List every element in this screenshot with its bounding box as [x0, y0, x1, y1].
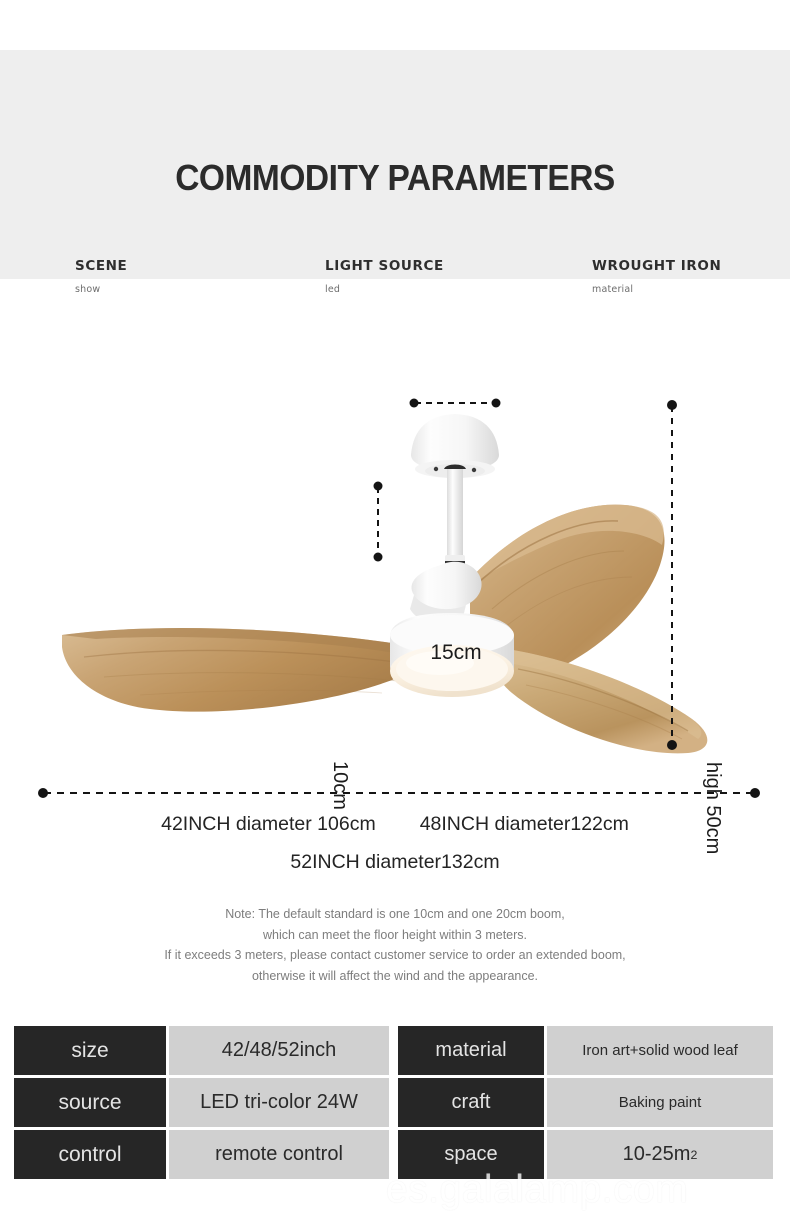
diameter-52inch: 52INCH diameter132cm — [290, 851, 499, 873]
diameter-line-1: 42INCH diameter 106cm48INCH diameter122c… — [0, 813, 790, 836]
spec-table-right: material Iron art+solid wood leaf craft … — [398, 1026, 773, 1179]
product-spec-page: COMMODITY PARAMETERS SCENE show LIGHT SO… — [0, 0, 790, 1224]
feature-title: SCENE — [75, 258, 127, 274]
dimension-line-15cm — [410, 399, 501, 408]
feature-title: LIGHT SOURCE — [325, 258, 444, 274]
table-row: size 42/48/52inch — [14, 1026, 389, 1075]
spec-key-material: material — [398, 1026, 544, 1075]
table-row: control remote control — [14, 1130, 389, 1179]
spec-value-space-exponent: 2 — [690, 1148, 697, 1162]
spec-value-source: LED tri-color 24W — [169, 1078, 389, 1127]
spec-value-space-number: 10-25m — [623, 1143, 691, 1166]
header-band: COMMODITY PARAMETERS SCENE show LIGHT SO… — [0, 50, 790, 279]
feature-title: WROUGHT IRON — [592, 258, 721, 274]
spec-value-control: remote control — [169, 1130, 389, 1179]
spec-table-left: size 42/48/52inch source LED tri-color 2… — [14, 1026, 389, 1179]
note-block: Note: The default standard is one 10cm a… — [0, 904, 790, 986]
diameter-42inch: 42INCH diameter 106cm — [161, 813, 376, 836]
diameter-48inch: 48INCH diameter122cm — [420, 813, 629, 835]
note-line-3: If it exceeds 3 meters, please contact c… — [0, 945, 790, 966]
specification-tables: size 42/48/52inch source LED tri-color 2… — [14, 1026, 776, 1179]
spec-value-space: 10-25m2 — [547, 1130, 773, 1179]
dimension-line-diameter — [38, 788, 760, 798]
dimension-lines-overlay — [0, 279, 790, 1010]
table-row: space 10-25m2 — [398, 1130, 773, 1179]
spec-key-space: space — [398, 1130, 544, 1179]
spec-key-craft: craft — [398, 1078, 544, 1127]
note-line-1: Note: The default standard is one 10cm a… — [0, 904, 790, 925]
table-row: craft Baking paint — [398, 1078, 773, 1127]
spec-value-material: Iron art+solid wood leaf — [547, 1026, 773, 1075]
dimension-line-50cm — [667, 400, 677, 750]
dimension-label-downrod-length: 10cm — [328, 761, 351, 810]
note-line-2: which can meet the floor height within 3… — [0, 925, 790, 946]
spec-key-control: control — [14, 1130, 166, 1179]
dimension-label-overall-height: high 50cm — [701, 762, 724, 854]
diameter-line-2: 52INCH diameter132cm — [0, 851, 790, 874]
dimension-line-10cm — [374, 482, 383, 562]
table-row: material Iron art+solid wood leaf — [398, 1026, 773, 1075]
note-line-4: otherwise it will affect the wind and th… — [0, 966, 790, 987]
product-diagram: 15cm 10cm high 50cm — [0, 279, 790, 1010]
spec-value-craft: Baking paint — [547, 1078, 773, 1127]
spec-value-size: 42/48/52inch — [169, 1026, 389, 1075]
spec-key-size: size — [14, 1026, 166, 1075]
dimension-label-canopy-width: 15cm — [413, 641, 499, 665]
spec-key-source: source — [14, 1078, 166, 1127]
table-row: source LED tri-color 24W — [14, 1078, 389, 1127]
page-title: COMMODITY PARAMETERS — [28, 157, 763, 199]
